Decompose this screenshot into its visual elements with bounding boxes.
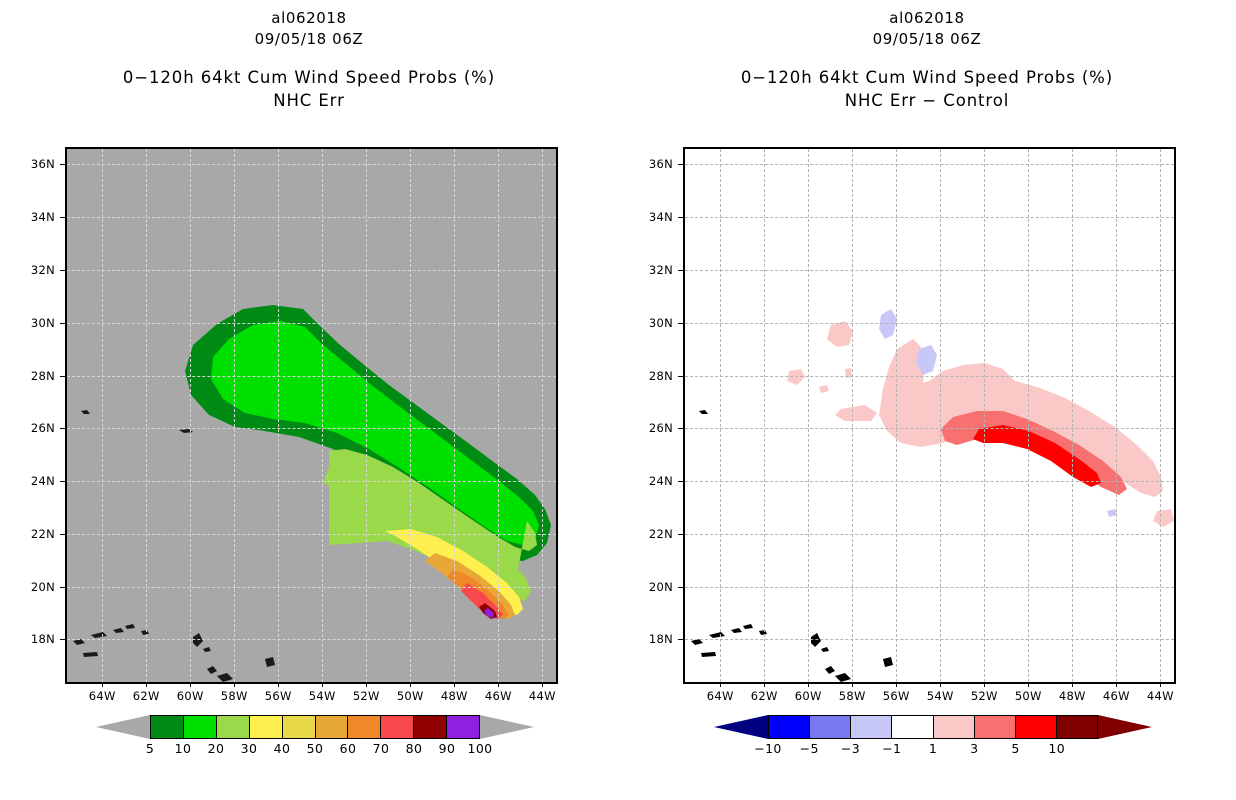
axis-label-latitude: 30N <box>17 316 55 330</box>
colorbar-swatch <box>1057 716 1097 738</box>
axis-tick-x <box>322 682 323 687</box>
axis-tick-y <box>678 587 683 588</box>
axis-tick-y <box>60 428 65 429</box>
axis-tick-y <box>678 323 683 324</box>
colorbar-gradient <box>768 715 1098 739</box>
axis-label-longitude: 52W <box>971 689 998 703</box>
colorbar-tick-label: 90 <box>439 741 456 756</box>
map-plot-area <box>683 147 1176 684</box>
axis-tick-y <box>60 270 65 271</box>
panel-nhc-err-control: al062018 09/05/18 06Z 0−120h 64kt Cum Wi… <box>618 0 1236 800</box>
axis-label-longitude: 50W <box>397 689 424 703</box>
colorbar-gradient <box>150 715 480 739</box>
axis-label-longitude: 58W <box>221 689 248 703</box>
axis-tick-y <box>60 587 65 588</box>
axis-tick-x <box>1072 682 1073 687</box>
colorbar-swatch <box>975 716 1016 738</box>
axis-tick-y <box>60 534 65 535</box>
probability-difference-field <box>685 149 1174 682</box>
axis-label-longitude: 50W <box>1015 689 1042 703</box>
axis-label-latitude: 18N <box>635 632 673 646</box>
axis-tick-y <box>678 217 683 218</box>
colorbar-swatch <box>447 716 479 738</box>
colorbar-tick-label: 5 <box>1011 741 1019 756</box>
colorbar-swatch <box>250 716 283 738</box>
axis-tick-x <box>498 682 499 687</box>
axis-tick-x <box>454 682 455 687</box>
colorbar-tick-label: 20 <box>208 741 225 756</box>
axis-label-latitude: 32N <box>635 263 673 277</box>
colorbar-tick-label: 5 <box>146 741 154 756</box>
axis-tick-y <box>678 481 683 482</box>
axis-tick-y <box>678 428 683 429</box>
probability-contour-field <box>67 149 556 682</box>
colorbar-swatch <box>851 716 892 738</box>
axis-tick-y <box>678 270 683 271</box>
storm-id-label: al062018 <box>618 8 1236 29</box>
axis-tick-x <box>102 682 103 687</box>
datetime-label: 09/05/18 06Z <box>618 29 1236 50</box>
axis-tick-y <box>678 164 683 165</box>
axis-tick-x <box>234 682 235 687</box>
axis-label-longitude: 64W <box>707 689 734 703</box>
panel-left-title-block: al062018 09/05/18 06Z 0−120h 64kt Cum Wi… <box>0 8 618 112</box>
colorbar-swatch <box>184 716 217 738</box>
axis-tick-y <box>60 639 65 640</box>
colorbar-swatch <box>892 716 933 738</box>
panel-title-sub: NHC Err − Control <box>618 89 1236 112</box>
axis-label-longitude: 60W <box>177 689 204 703</box>
axis-label-latitude: 36N <box>635 157 673 171</box>
axis-tick-x <box>542 682 543 687</box>
axis-label-latitude: 36N <box>17 157 55 171</box>
colorbar-swatch <box>316 716 349 738</box>
colorbar-tick-label: 10 <box>175 741 192 756</box>
axis-label-latitude: 30N <box>635 316 673 330</box>
axis-label-longitude: 46W <box>1103 689 1130 703</box>
axis-label-longitude: 62W <box>751 689 778 703</box>
colorbar-tick-label: 3 <box>970 741 978 756</box>
axis-label-longitude: 46W <box>485 689 512 703</box>
axis-label-latitude: 24N <box>635 474 673 488</box>
axis-tick-y <box>678 639 683 640</box>
axis-tick-y <box>60 481 65 482</box>
panel-title-sub: NHC Err <box>0 89 618 112</box>
axis-label-longitude: 58W <box>839 689 866 703</box>
colorbar-swatch <box>1016 716 1057 738</box>
panel-nhc-err: al062018 09/05/18 06Z 0−120h 64kt Cum Wi… <box>0 0 618 800</box>
axis-label-longitude: 44W <box>529 689 556 703</box>
colorbar-swatch <box>934 716 975 738</box>
axis-tick-x <box>984 682 985 687</box>
axis-tick-x <box>940 682 941 687</box>
colorbar-tick-label: −5 <box>800 741 819 756</box>
axis-tick-x <box>410 682 411 687</box>
colorbar-swatch <box>414 716 447 738</box>
axis-tick-x <box>146 682 147 687</box>
axis-label-latitude: 26N <box>17 421 55 435</box>
axis-label-latitude: 28N <box>17 369 55 383</box>
panel-title-main: 0−120h 64kt Cum Wind Speed Probs (%) <box>0 66 618 89</box>
axis-tick-x <box>1116 682 1117 687</box>
colorbar-left-cap-icon <box>714 715 768 739</box>
axis-label-latitude: 22N <box>17 527 55 541</box>
axis-label-latitude: 28N <box>635 369 673 383</box>
axis-tick-x <box>278 682 279 687</box>
axis-tick-y <box>678 534 683 535</box>
axis-label-latitude: 20N <box>635 580 673 594</box>
colorbar-tick-label: −3 <box>841 741 860 756</box>
axis-tick-x <box>764 682 765 687</box>
panel-right-title-block: al062018 09/05/18 06Z 0−120h 64kt Cum Wi… <box>618 8 1236 112</box>
axis-tick-x <box>1028 682 1029 687</box>
axis-label-longitude: 48W <box>1059 689 1086 703</box>
axis-label-longitude: 52W <box>353 689 380 703</box>
colorbar-nhc-err: 5102030405060708090100 <box>50 715 570 771</box>
colorbar-tick-label: 80 <box>406 741 423 756</box>
axis-label-longitude: 56W <box>883 689 910 703</box>
colorbar-tick-label: −10 <box>754 741 782 756</box>
colorbar-right-cap-icon <box>480 715 534 739</box>
colorbar-swatch <box>810 716 851 738</box>
storm-id-label: al062018 <box>0 8 618 29</box>
colorbar-tick-label: −1 <box>882 741 901 756</box>
axis-label-latitude: 20N <box>17 580 55 594</box>
colorbar-swatch <box>381 716 414 738</box>
panel-title-main: 0−120h 64kt Cum Wind Speed Probs (%) <box>618 66 1236 89</box>
colorbar-tick-label: 100 <box>467 741 492 756</box>
axis-label-longitude: 60W <box>795 689 822 703</box>
colorbar-tick-label: 50 <box>307 741 324 756</box>
axis-tick-x <box>808 682 809 687</box>
map-plot-area <box>65 147 558 684</box>
axis-label-longitude: 44W <box>1147 689 1174 703</box>
axis-label-latitude: 32N <box>17 263 55 277</box>
colorbar-swatch <box>769 716 810 738</box>
datetime-label: 09/05/18 06Z <box>0 29 618 50</box>
axis-tick-x <box>720 682 721 687</box>
colorbar-right-cap-icon <box>1098 715 1152 739</box>
axis-label-longitude: 54W <box>309 689 336 703</box>
axis-label-latitude: 26N <box>635 421 673 435</box>
colorbar-swatch <box>348 716 381 738</box>
axis-tick-x <box>896 682 897 687</box>
axis-label-latitude: 34N <box>635 210 673 224</box>
axis-label-latitude: 22N <box>635 527 673 541</box>
colorbar-tick-label: 1 <box>929 741 937 756</box>
colorbar-tick-label: 40 <box>274 741 291 756</box>
colorbar-tick-label: 30 <box>241 741 258 756</box>
colorbar-swatch <box>283 716 316 738</box>
axis-tick-x <box>852 682 853 687</box>
axis-tick-y <box>60 323 65 324</box>
axis-label-longitude: 54W <box>927 689 954 703</box>
axis-tick-x <box>190 682 191 687</box>
colorbar-nhc-err-control: −10−5−3−113510 <box>668 715 1188 771</box>
axis-label-latitude: 24N <box>17 474 55 488</box>
axis-tick-y <box>60 164 65 165</box>
axis-label-longitude: 56W <box>265 689 292 703</box>
colorbar-swatch <box>151 716 184 738</box>
axis-label-latitude: 34N <box>17 210 55 224</box>
colorbar-tick-label: 60 <box>340 741 357 756</box>
axis-tick-y <box>678 376 683 377</box>
axis-tick-y <box>60 376 65 377</box>
colorbar-left-cap-icon <box>96 715 150 739</box>
axis-label-longitude: 62W <box>133 689 160 703</box>
colorbar-tick-label: 10 <box>1048 741 1065 756</box>
axis-label-latitude: 18N <box>17 632 55 646</box>
colorbar-swatch <box>217 716 250 738</box>
axis-tick-y <box>60 217 65 218</box>
axis-label-longitude: 64W <box>89 689 116 703</box>
axis-tick-x <box>1160 682 1161 687</box>
axis-label-longitude: 48W <box>441 689 468 703</box>
colorbar-tick-label: 70 <box>373 741 390 756</box>
axis-tick-x <box>366 682 367 687</box>
